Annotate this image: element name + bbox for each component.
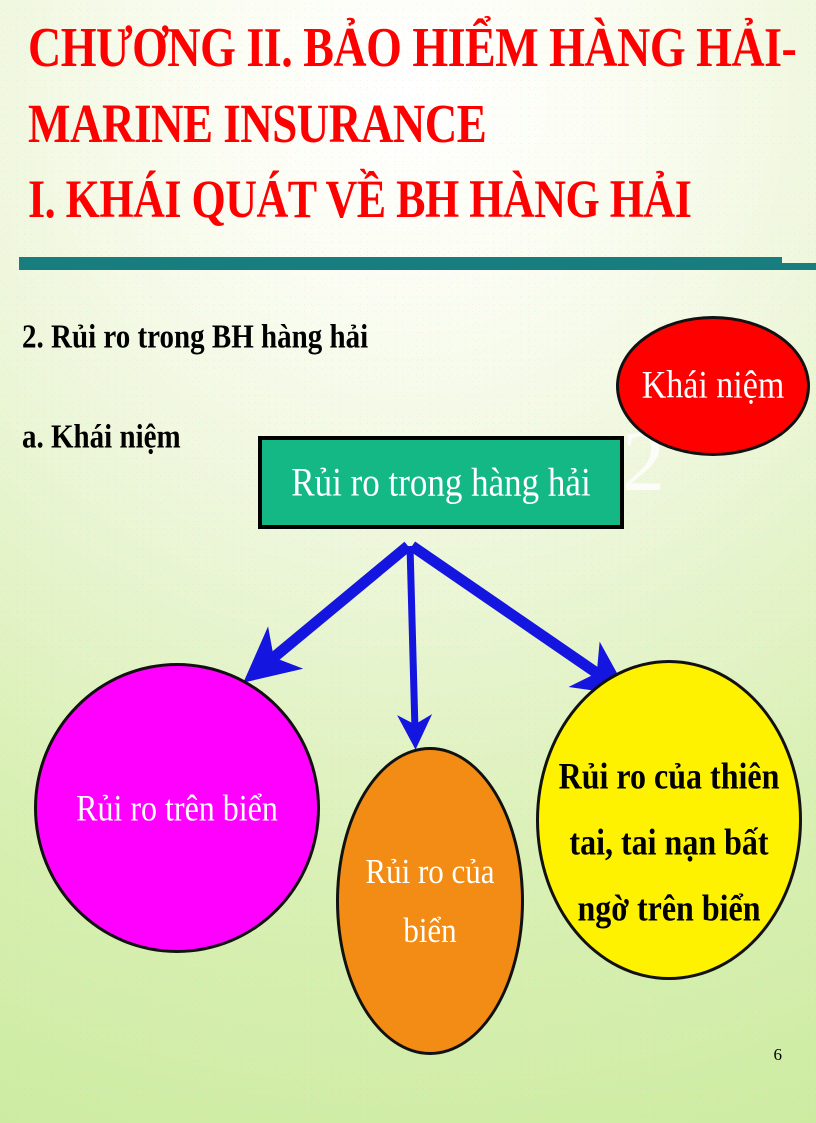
node-box-label: Rủi ro trong hàng hải	[291, 461, 590, 505]
arrow-to-magenta-oval	[267, 546, 408, 663]
title-line-3: I. KHÁI QUÁT VỀ BH HÀNG HẢI	[28, 162, 798, 238]
node-box-rui-ro-trong-hang-hai[interactable]: Rủi ro trong hàng hải	[258, 436, 624, 529]
node-oval-yellow-label: Rủi ro của thiên tai, tai nạn bất ngờ tr…	[544, 743, 794, 941]
node-oval-magenta-label: Rủi ro trên biển	[76, 789, 278, 828]
callout-oval-label: Khái niệm	[642, 365, 785, 406]
callout-oval-khai-niem[interactable]: Khái niệm	[616, 316, 810, 456]
arrow-to-orange-oval	[410, 546, 415, 730]
heading-section-2: 2. Rủi ro trong BH hàng hải	[22, 318, 368, 357]
page-number: 6	[774, 1045, 783, 1065]
title-divider-shadow	[19, 263, 816, 270]
heading-subsection-a: a. Khái niệm	[22, 418, 181, 457]
node-oval-rui-ro-cua-bien[interactable]: Rủi ro của biển	[336, 747, 524, 1055]
node-oval-orange-label: Rủi ro của biển	[345, 842, 515, 961]
slide-canvas: CHƯƠNG II. BẢO HIỂM HÀNG HẢI- MARINE INS…	[0, 0, 816, 1123]
title-line-1: CHƯƠNG II. BẢO HIỂM HÀNG HẢI-	[28, 10, 798, 86]
slide-title: CHƯƠNG II. BẢO HIỂM HÀNG HẢI- MARINE INS…	[28, 10, 798, 224]
node-oval-rui-ro-tren-bien[interactable]: Rủi ro trên biển	[34, 663, 320, 953]
arrow-to-yellow-oval	[412, 546, 604, 678]
title-line-2: MARINE INSURANCE	[28, 86, 798, 162]
node-oval-rui-ro-thien-tai[interactable]: Rủi ro của thiên tai, tai nạn bất ngờ tr…	[536, 660, 802, 980]
